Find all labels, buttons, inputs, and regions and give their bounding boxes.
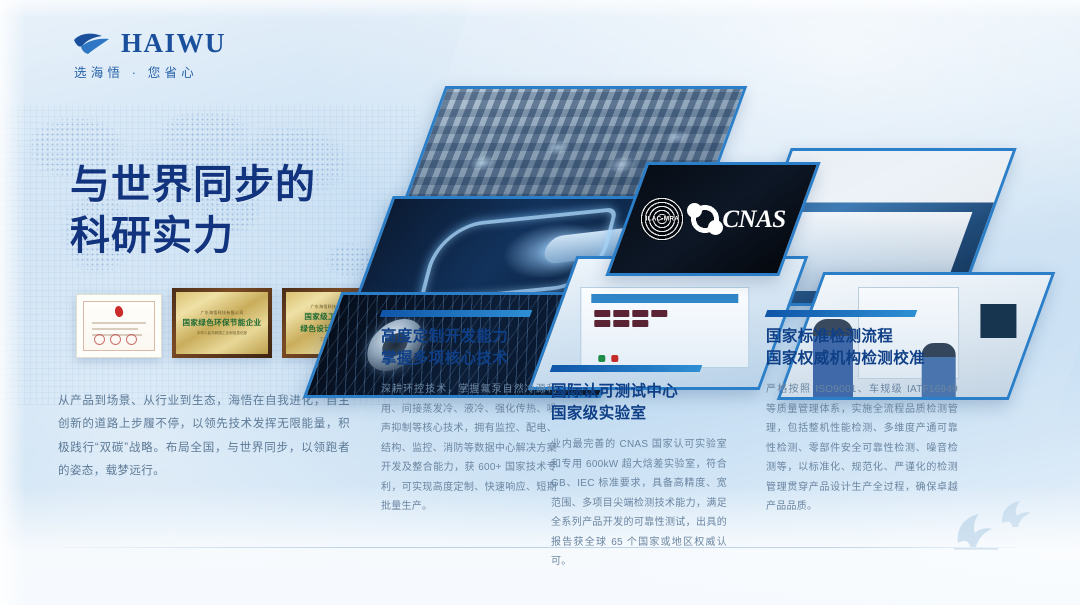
feature-card-custom-development: 高度定制开发能力 掌握多项核心技术 深耕环控技术，掌握氟泵自然冷源利用、间接蒸发…	[381, 310, 557, 517]
bottom-divider	[64, 547, 1016, 548]
award-certificate	[76, 294, 162, 358]
logo-row: HAIWU	[72, 30, 226, 57]
plaque-issuer: 中华人民共和国工业和信息化部	[197, 331, 247, 336]
plaque-org: 广东海悟科技有限公司	[201, 310, 244, 316]
ilac-mra-label: ILAC-MRA	[640, 216, 684, 223]
card-title-line-2: 国家级实验室	[551, 405, 646, 422]
dolphin-icon	[946, 487, 1056, 553]
brand-tagline: 选海悟 · 您省心	[72, 62, 226, 81]
feature-card-test-center: 国际认可测试中心 国家级实验室 业内最完善的 CNAS 国家认可实验室和专用 6…	[551, 365, 727, 572]
cnas-logo-group: ILAC-MRA CNAS	[629, 165, 797, 273]
card-accent-bar	[550, 365, 703, 372]
cnas-wordmark: CNAS	[722, 207, 785, 232]
plaque-face: 广东海悟科技有限公司 国家绿色环保节能企业 中华人民共和国工业和信息化部	[176, 292, 268, 354]
card-body: 严格按照 ISO9001、车规级 IATF16949 等质量管理体系，实施全流程…	[766, 380, 958, 517]
card-accent-bar	[765, 310, 918, 317]
cabinet-led-cluster	[595, 310, 672, 327]
card-title: 国际认可测试中心 国家级实验室	[551, 381, 727, 425]
plaque-title: 国家绿色环保节能企业	[183, 318, 262, 327]
cabinet-header-bar	[591, 295, 738, 304]
brand-name: HAIWU	[121, 30, 226, 57]
cnas-logo: CNAS	[690, 204, 785, 234]
cabinet-body	[580, 287, 749, 368]
intro-paragraph: 从产品到场景、从行业到生态，海悟在自我进化，自主创新的道路上步履不停，以领先技术…	[58, 390, 350, 484]
brand-logo: HAIWU 选海悟 · 您省心	[72, 30, 226, 81]
ilac-mra-icon: ILAC-MRA	[640, 197, 684, 241]
feature-card-national-standard: 国家标准检测流程 国家权威机构检测校准 严格按照 ISO9001、车规级 IAT…	[766, 310, 958, 517]
left-edge-fade	[0, 0, 26, 605]
card-title: 国家标准检测流程 国家权威机构检测校准	[766, 326, 958, 370]
cnas-emblem-icon	[690, 204, 720, 234]
card-title-line-2: 国家权威机构检测校准	[766, 350, 925, 367]
card-accent-bar	[380, 310, 533, 317]
top-edge-fade	[0, 0, 1080, 18]
wave-mark-icon	[72, 31, 112, 57]
monitor-screen	[980, 304, 1016, 338]
card-title-line-1: 国家标准检测流程	[766, 328, 893, 345]
card-title-line-1: 国际认可测试中心	[551, 383, 678, 400]
cabinet-buttons	[598, 355, 618, 362]
card-title: 高度定制开发能力 掌握多项核心技术	[381, 326, 557, 370]
card-title-line-1: 高度定制开发能力	[381, 328, 508, 345]
certificate-face	[83, 301, 155, 351]
card-body: 深耕环控技术，掌握氟泵自然冷源利用、间接蒸发冷、液冷、强化传热、噪声抑制等核心技…	[381, 380, 557, 517]
card-body: 业内最完善的 CNAS 国家认可实验室和专用 600kW 超大焓差实验室，符合 …	[551, 435, 727, 572]
award-plaque-1: 广东海悟科技有限公司 国家绿色环保节能企业 中华人民共和国工业和信息化部	[172, 288, 272, 358]
card-title-line-2: 掌握多项核心技术	[381, 350, 508, 367]
slide-canvas: HAIWU 选海悟 · 您省心 与世界同步的 科研实力 广东海悟科技有限公司 国…	[0, 0, 1080, 605]
